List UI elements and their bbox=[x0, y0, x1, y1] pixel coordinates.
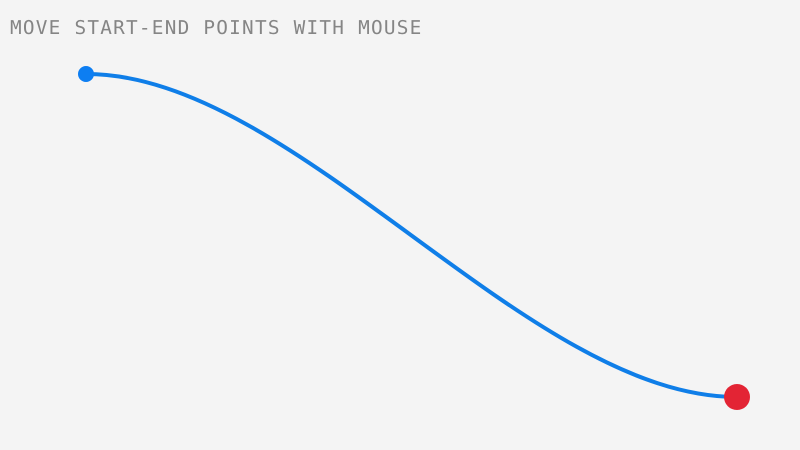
bezier-demo-app: MOVE START-END POINTS WITH MOUSE bbox=[0, 0, 800, 450]
start-point-handle[interactable] bbox=[78, 66, 94, 82]
bezier-curve-canvas[interactable] bbox=[0, 0, 800, 450]
end-point-handle[interactable] bbox=[724, 384, 750, 410]
bezier-curve-path bbox=[86, 74, 737, 397]
